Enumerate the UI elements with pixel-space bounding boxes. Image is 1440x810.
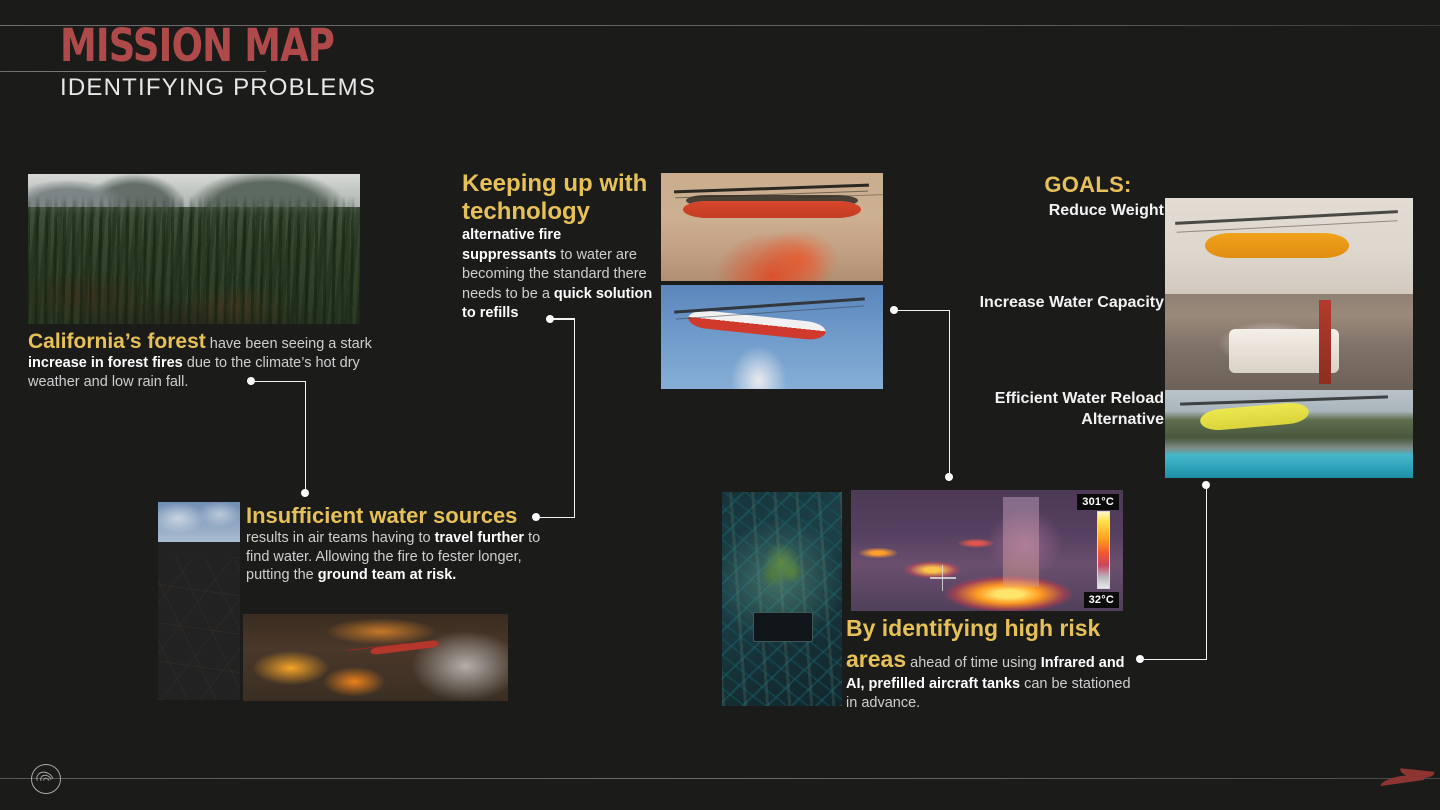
goal-pool-photo xyxy=(1165,390,1413,478)
thermal-gradient-bar xyxy=(1097,511,1110,589)
technology-text-block: Keeping up with technology alternative f… xyxy=(462,170,658,324)
goal-label-increase-capacity: Increase Water Capacity xyxy=(964,292,1164,313)
thermal-max-temp: 301°C xyxy=(1077,494,1119,510)
insufficient-heading: Insufficient water sources xyxy=(246,503,517,528)
slide-canvas: MISSION MAP IDENTIFYING PROBLEMS Califor… xyxy=(0,0,1440,810)
goal-tank-photo xyxy=(1165,294,1413,390)
california-text-block: California’s forest have been seeing a s… xyxy=(28,330,373,392)
california-heading: California’s forest xyxy=(28,330,206,353)
high-risk-text-block: By identifying high risk areas ahead of … xyxy=(846,613,1136,713)
drought-photo xyxy=(158,502,240,700)
red-swoosh-icon xyxy=(1378,766,1438,792)
technology-heading: Keeping up with technology xyxy=(462,170,658,226)
insufficient-body: results in air teams having to travel fu… xyxy=(246,530,540,583)
thermal-photo: 301°C 32°C xyxy=(851,490,1123,611)
water-drop-photo xyxy=(661,285,883,389)
page-subtitle: IDENTIFYING PROBLEMS xyxy=(60,74,376,102)
technology-body: alternative fire suppressants to water a… xyxy=(462,227,652,321)
crosshair-icon xyxy=(930,565,956,591)
ai-circuit-photo xyxy=(722,492,842,706)
retardant-drop-photo xyxy=(661,173,883,281)
goal-helicopter-photo xyxy=(1165,198,1413,294)
insufficient-text-block: Insufficient water sources results in ai… xyxy=(246,503,546,585)
wildfire-photo xyxy=(243,614,508,701)
thermal-min-temp: 32°C xyxy=(1084,592,1119,608)
forest-photo xyxy=(28,174,360,324)
goal-label-reload-alternative: Efficient Water Reload Alternative xyxy=(944,388,1164,430)
goal-label-reduce-weight: Reduce Weight xyxy=(964,200,1164,221)
spiral-logo-icon xyxy=(31,764,61,794)
thermal-tree-trunk xyxy=(1003,497,1038,587)
footer-rule xyxy=(0,778,1440,779)
goals-title: GOALS: xyxy=(1012,172,1164,198)
page-title: MISSION MAP xyxy=(60,22,334,70)
